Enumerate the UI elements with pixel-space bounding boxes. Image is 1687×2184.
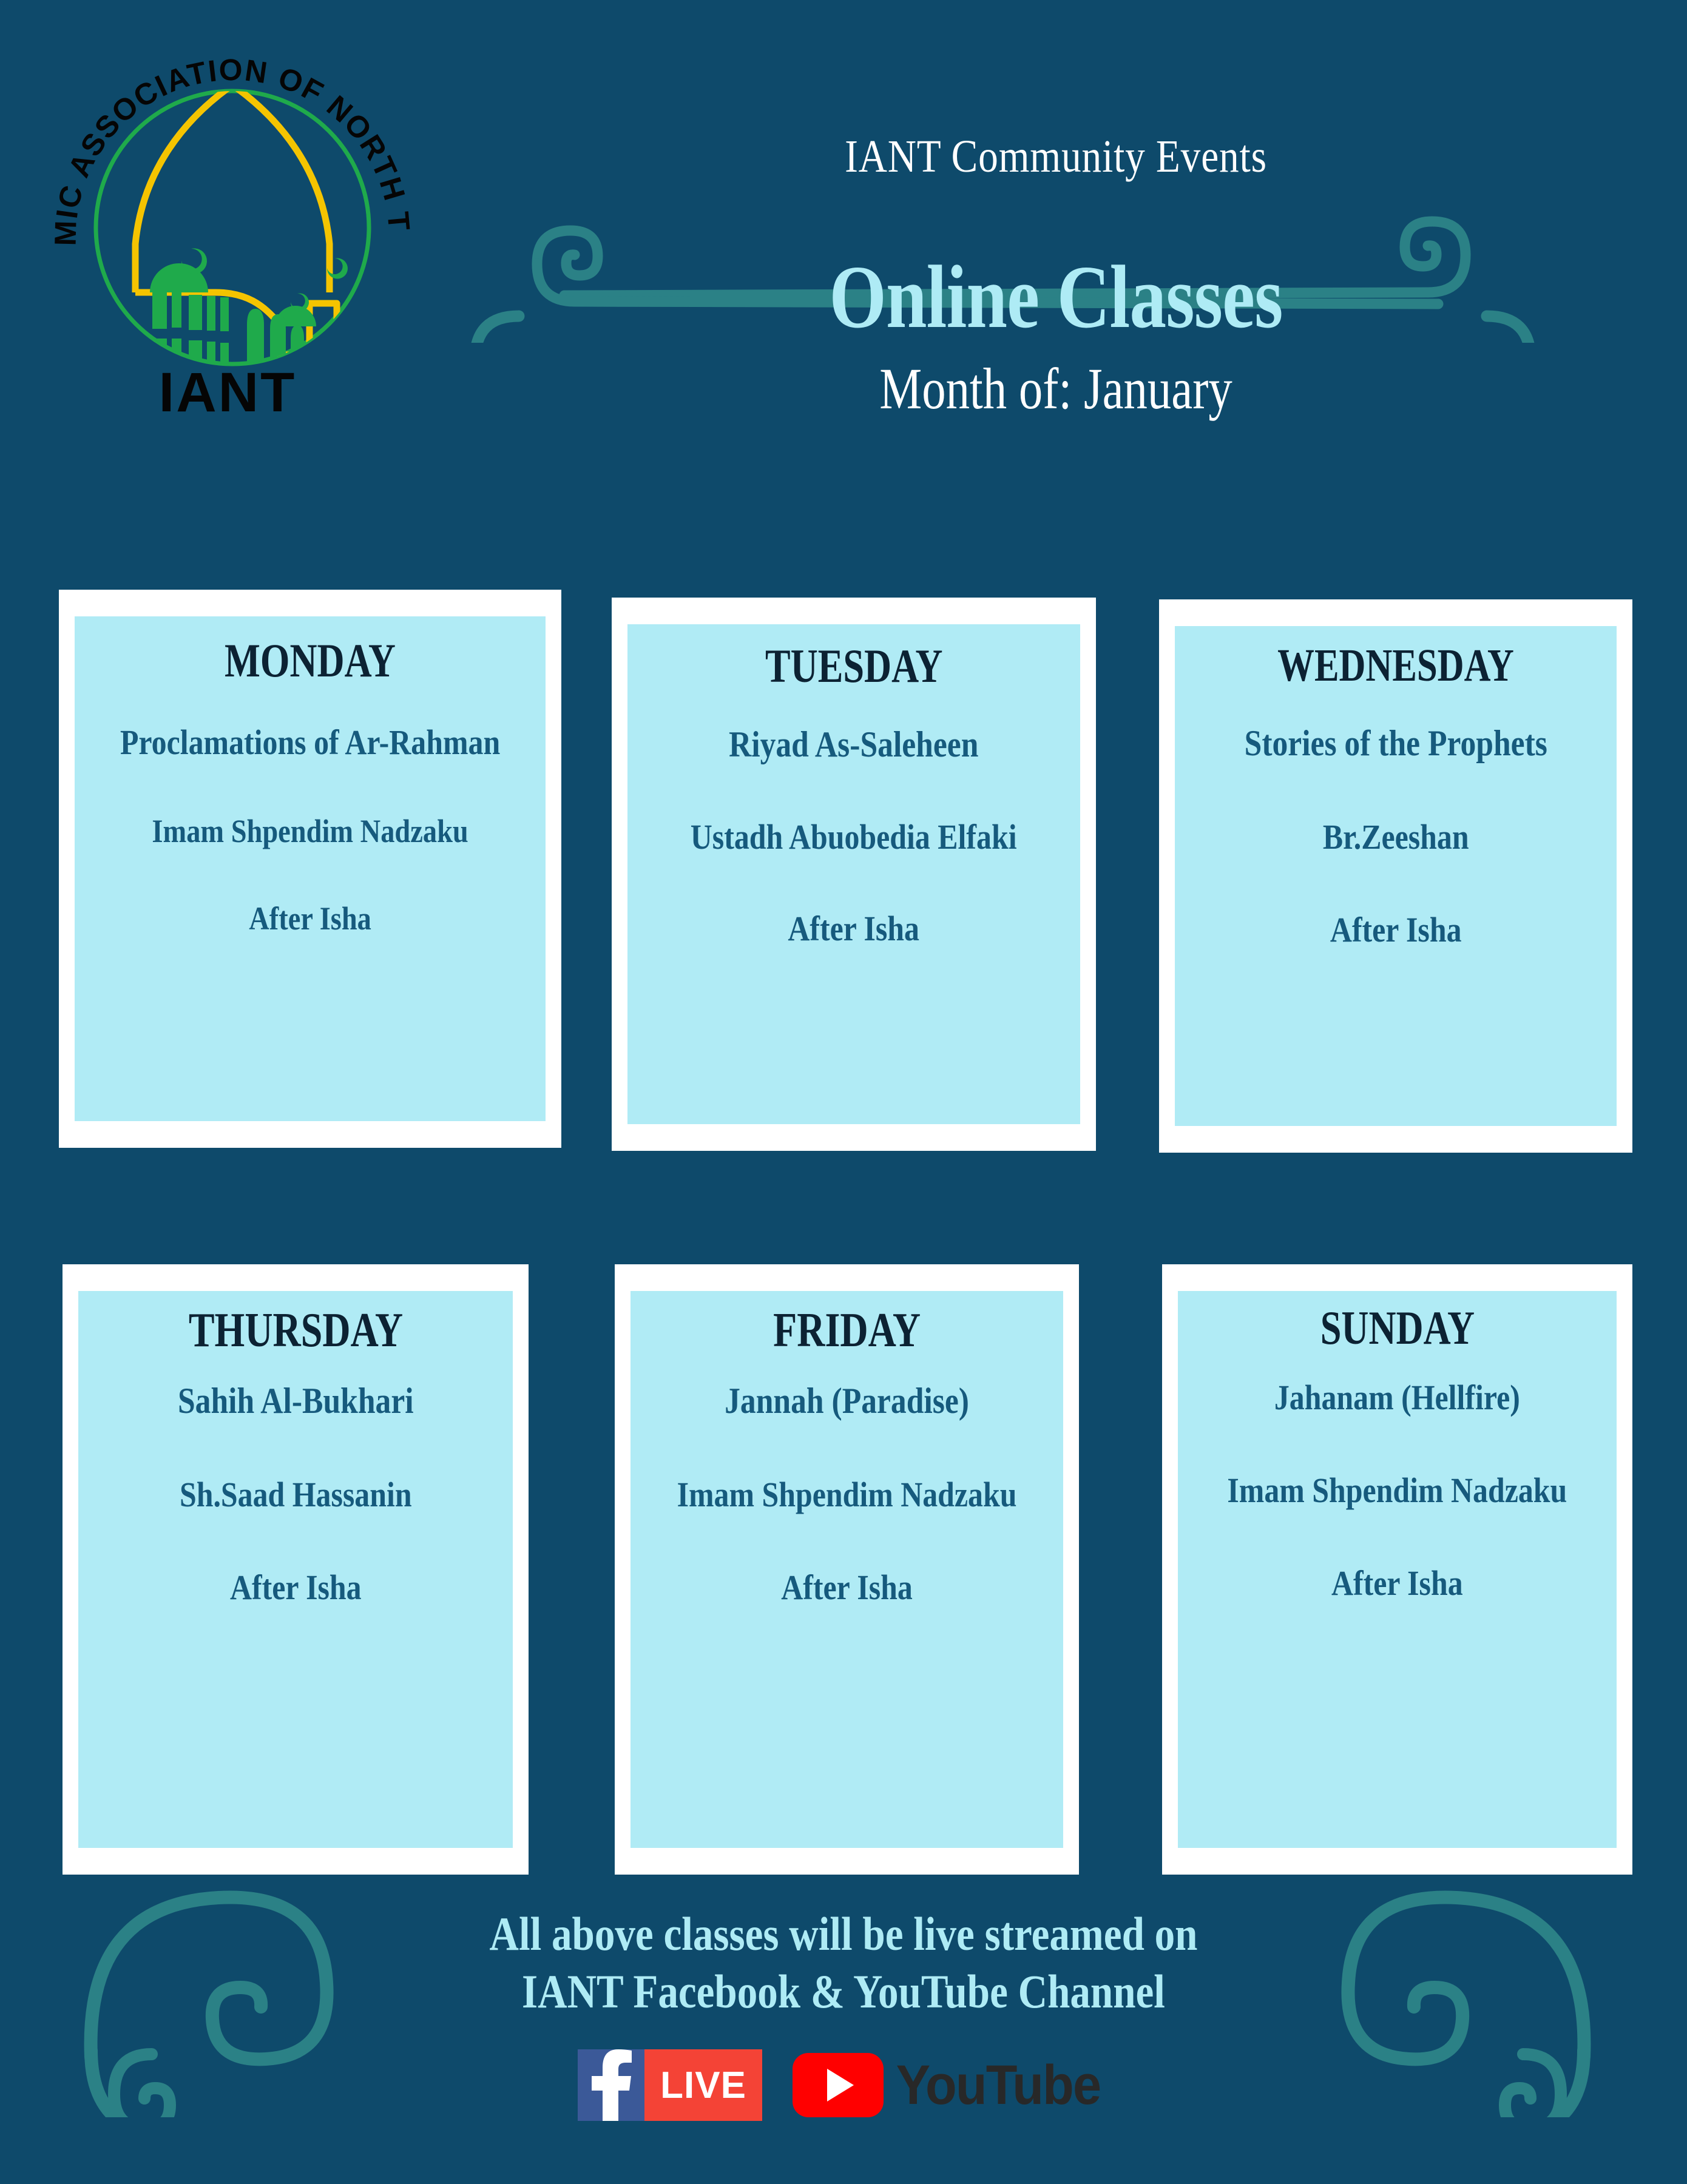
youtube-badge[interactable]: YouTube xyxy=(793,2049,1109,2121)
class-title: Jahanam (Hellfire) xyxy=(1178,1377,1616,1418)
class-time: After Isha xyxy=(628,908,1080,949)
class-title: Riyad As-Saleheen xyxy=(628,724,1080,766)
header-eyebrow: IANT Community Events xyxy=(544,130,1567,183)
class-time: After Isha xyxy=(1178,1563,1616,1603)
day-label: SUNDAY xyxy=(1178,1301,1617,1355)
class-instructor: Ustadh Abuobedia Elfaki xyxy=(628,817,1080,857)
youtube-label: YouTube xyxy=(896,2054,1101,2117)
class-title: Jannah (Paradise) xyxy=(631,1380,1063,1422)
live-label: LIVE xyxy=(644,2049,762,2121)
class-time: After Isha xyxy=(1175,909,1616,950)
footer-message: All above classes will be live streamed … xyxy=(0,1905,1687,2020)
schedule-card-tuesday[interactable]: TUESDAY Riyad As-Saleheen Ustadh Abuobed… xyxy=(612,598,1096,1151)
day-label: MONDAY xyxy=(75,633,546,688)
class-time: After Isha xyxy=(79,1567,512,1608)
class-instructor: Imam Shpendim Nadzaku xyxy=(631,1474,1063,1515)
header-block: IANT Community Events Online Classes Mon… xyxy=(461,130,1651,519)
schedule-card-wednesday[interactable]: WEDNESDAY Stories of the Prophets Br.Zee… xyxy=(1159,599,1632,1153)
social-badges: LIVE YouTube xyxy=(0,2049,1687,2121)
footer-line-1: All above classes will be live streamed … xyxy=(118,1905,1569,1963)
day-label: TUESDAY xyxy=(627,639,1080,693)
page-title: Online Classes xyxy=(568,246,1543,349)
card-body: THURSDAY Sahih Al-Bukhari Sh.Saad Hassan… xyxy=(78,1291,513,1848)
poster-canvas: ISLAMIC ASSOCIATION OF NORTH TEXAS xyxy=(0,0,1687,2184)
card-body: MONDAY Proclamations of Ar-Rahman Imam S… xyxy=(75,616,546,1121)
card-body: SUNDAY Jahanam (Hellfire) Imam Shpendim … xyxy=(1178,1291,1617,1848)
class-instructor: Imam Shpendim Nadzaku xyxy=(75,812,545,850)
facebook-live-badge[interactable]: LIVE xyxy=(578,2049,762,2121)
schedule-card-monday[interactable]: MONDAY Proclamations of Ar-Rahman Imam S… xyxy=(59,590,561,1148)
class-title: Sahih Al-Bukhari xyxy=(79,1380,512,1422)
day-label: WEDNESDAY xyxy=(1175,639,1617,692)
facebook-icon[interactable] xyxy=(578,2049,644,2121)
class-instructor: Sh.Saad Hassanin xyxy=(79,1474,512,1515)
class-title: Stories of the Prophets xyxy=(1175,723,1616,764)
schedule-card-sunday[interactable]: SUNDAY Jahanam (Hellfire) Imam Shpendim … xyxy=(1162,1264,1632,1875)
class-instructor: Imam Shpendim Nadzaku xyxy=(1178,1470,1616,1511)
card-body: FRIDAY Jannah (Paradise) Imam Shpendim N… xyxy=(631,1291,1063,1848)
class-title: Proclamations of Ar-Rahman xyxy=(75,722,545,763)
class-instructor: Br.Zeeshan xyxy=(1175,817,1616,857)
class-time: After Isha xyxy=(631,1567,1063,1608)
card-body: WEDNESDAY Stories of the Prophets Br.Zee… xyxy=(1175,626,1617,1126)
youtube-play-icon[interactable] xyxy=(793,2053,884,2117)
svg-text:ISLAMIC ASSOCIATION OF NORTH T: ISLAMIC ASSOCIATION OF NORTH TEXAS xyxy=(33,18,416,246)
svg-text:IANT: IANT xyxy=(159,362,297,423)
schedule-card-friday[interactable]: FRIDAY Jannah (Paradise) Imam Shpendim N… xyxy=(615,1264,1079,1875)
card-body: TUESDAY Riyad As-Saleheen Ustadh Abuobed… xyxy=(627,624,1080,1124)
footer-line-2: IANT Facebook & YouTube Channel xyxy=(118,1963,1569,2020)
day-label: THURSDAY xyxy=(78,1303,513,1358)
schedule-card-thursday[interactable]: THURSDAY Sahih Al-Bukhari Sh.Saad Hassan… xyxy=(63,1264,529,1875)
iant-logo: ISLAMIC ASSOCIATION OF NORTH TEXAS xyxy=(33,18,422,431)
page-subtitle: Month of: January xyxy=(568,355,1543,422)
class-time: After Isha xyxy=(75,900,545,937)
day-label: FRIDAY xyxy=(631,1303,1063,1358)
